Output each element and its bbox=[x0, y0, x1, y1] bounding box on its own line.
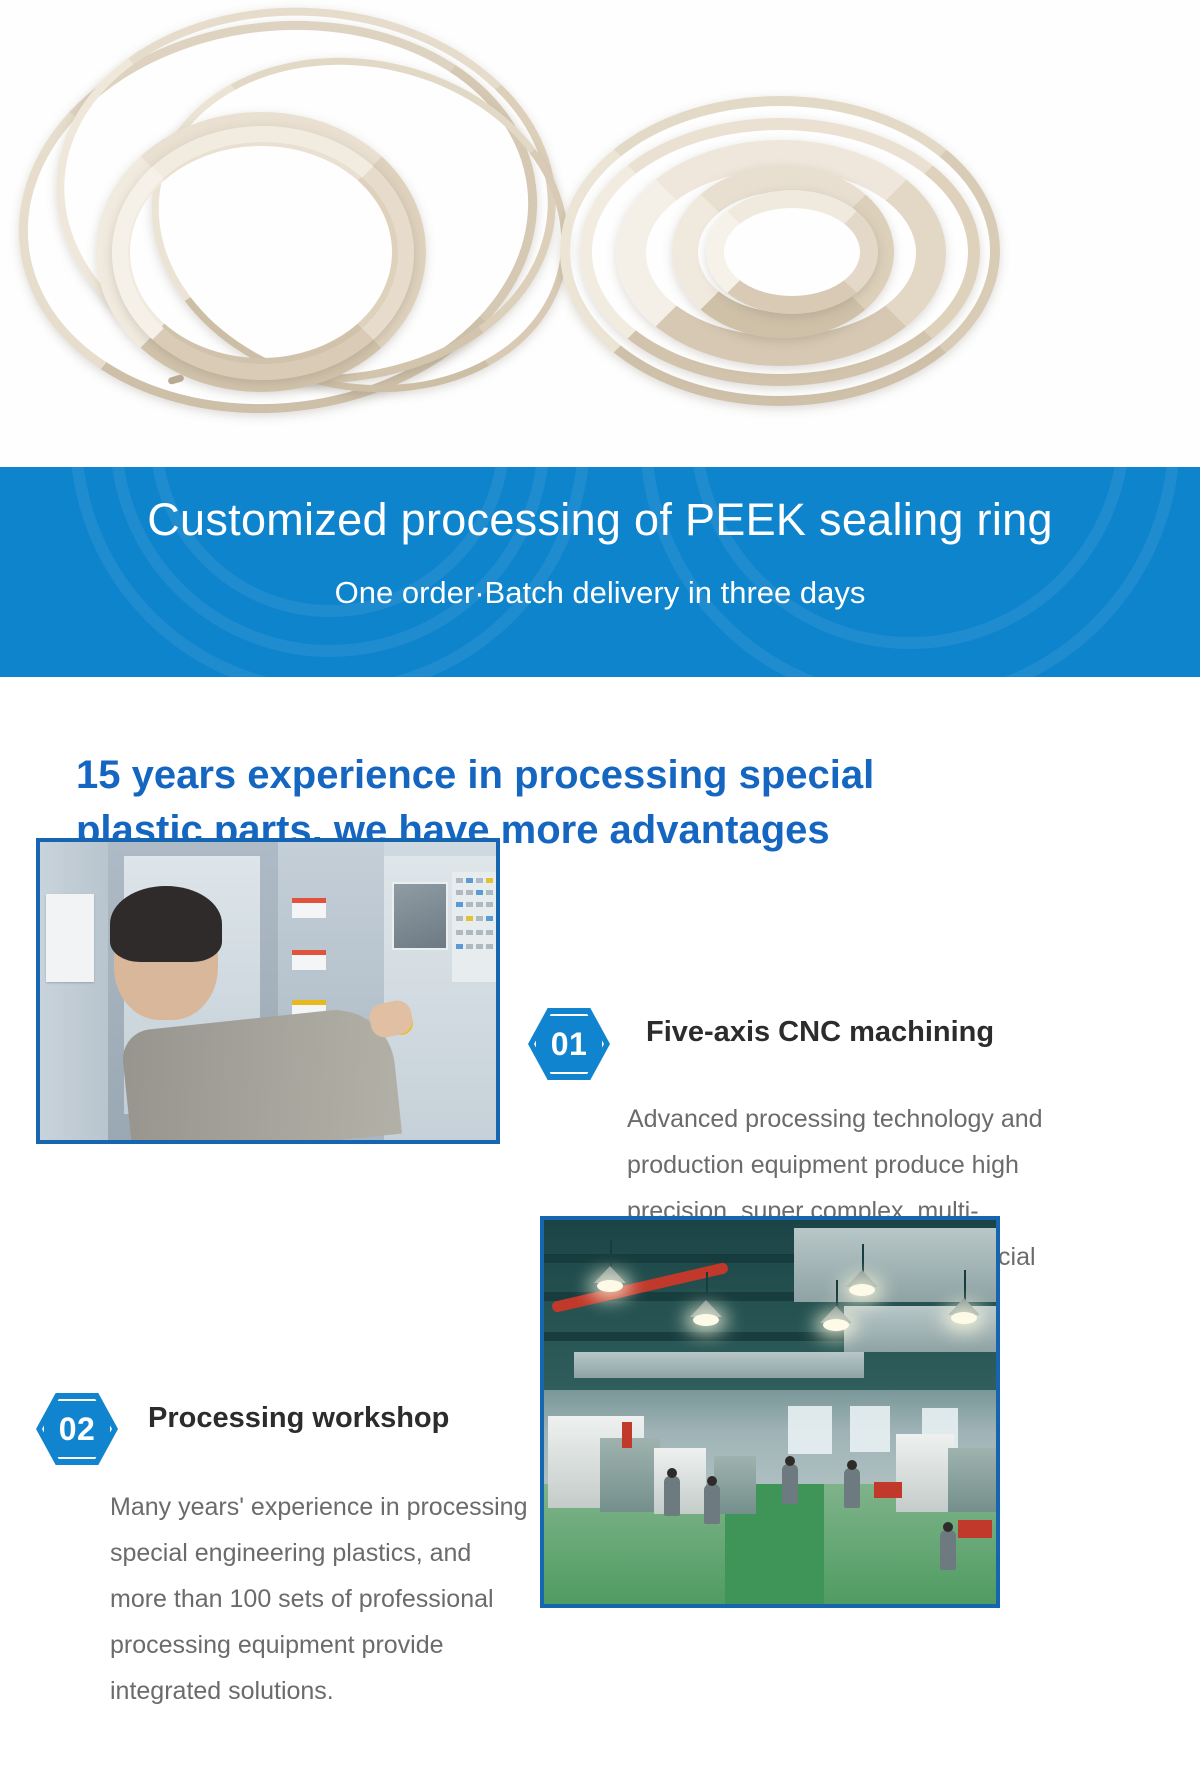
banner-subtitle: One order·Batch delivery in three days bbox=[0, 575, 1200, 611]
cnc-left-door bbox=[40, 842, 108, 1140]
banner-title: Customized processing of PEEK sealing ri… bbox=[0, 494, 1200, 546]
worker bbox=[782, 1464, 798, 1504]
cnc-machine bbox=[714, 1456, 756, 1514]
warning-label-icon bbox=[292, 898, 326, 918]
window bbox=[788, 1406, 832, 1454]
lamp-glow bbox=[597, 1280, 623, 1292]
cnc-display-screen bbox=[392, 882, 448, 950]
cnc-paper-clipboard bbox=[46, 894, 94, 982]
worker bbox=[664, 1476, 680, 1516]
peek-rings-photo bbox=[0, 0, 1200, 470]
lamp-glow bbox=[951, 1312, 977, 1324]
cnc-keypad bbox=[452, 872, 500, 982]
feature-02-image bbox=[540, 1216, 1000, 1608]
signal-tower-icon bbox=[622, 1422, 632, 1448]
lamp-glow bbox=[823, 1319, 849, 1331]
air-duct bbox=[574, 1352, 864, 1378]
feature-02-body: Many years' experience in processing spe… bbox=[110, 1484, 530, 1714]
lamp-glow bbox=[693, 1314, 719, 1326]
cnc-machine bbox=[896, 1434, 954, 1512]
feature-01-title: Five-axis CNC machining bbox=[646, 1016, 994, 1049]
lamp-glow bbox=[849, 1284, 875, 1296]
cnc-machine bbox=[948, 1448, 998, 1512]
operator-hair bbox=[110, 886, 222, 962]
sealing-ring-right-inner bbox=[706, 190, 878, 314]
feature-01-number: 01 bbox=[528, 1008, 610, 1080]
red-cart bbox=[958, 1520, 992, 1538]
feature-02-title: Processing workshop bbox=[148, 1402, 449, 1435]
red-cart bbox=[874, 1482, 902, 1498]
hero-product-image bbox=[0, 0, 1200, 470]
worker bbox=[704, 1484, 720, 1524]
warning-label-icon bbox=[292, 950, 326, 970]
cnc-machine bbox=[600, 1438, 660, 1512]
cnc-machine bbox=[654, 1448, 706, 1514]
window bbox=[850, 1406, 890, 1452]
sealing-ring-left-inner bbox=[112, 126, 414, 380]
section-heading-line1: 15 years experience in processing specia… bbox=[76, 748, 1076, 803]
hero-banner: Customized processing of PEEK sealing ri… bbox=[0, 467, 1200, 677]
worker bbox=[844, 1468, 860, 1508]
worker bbox=[940, 1530, 956, 1570]
air-duct bbox=[794, 1228, 1000, 1302]
feature-01-image bbox=[36, 838, 500, 1144]
feature-02-number: 02 bbox=[36, 1393, 118, 1465]
